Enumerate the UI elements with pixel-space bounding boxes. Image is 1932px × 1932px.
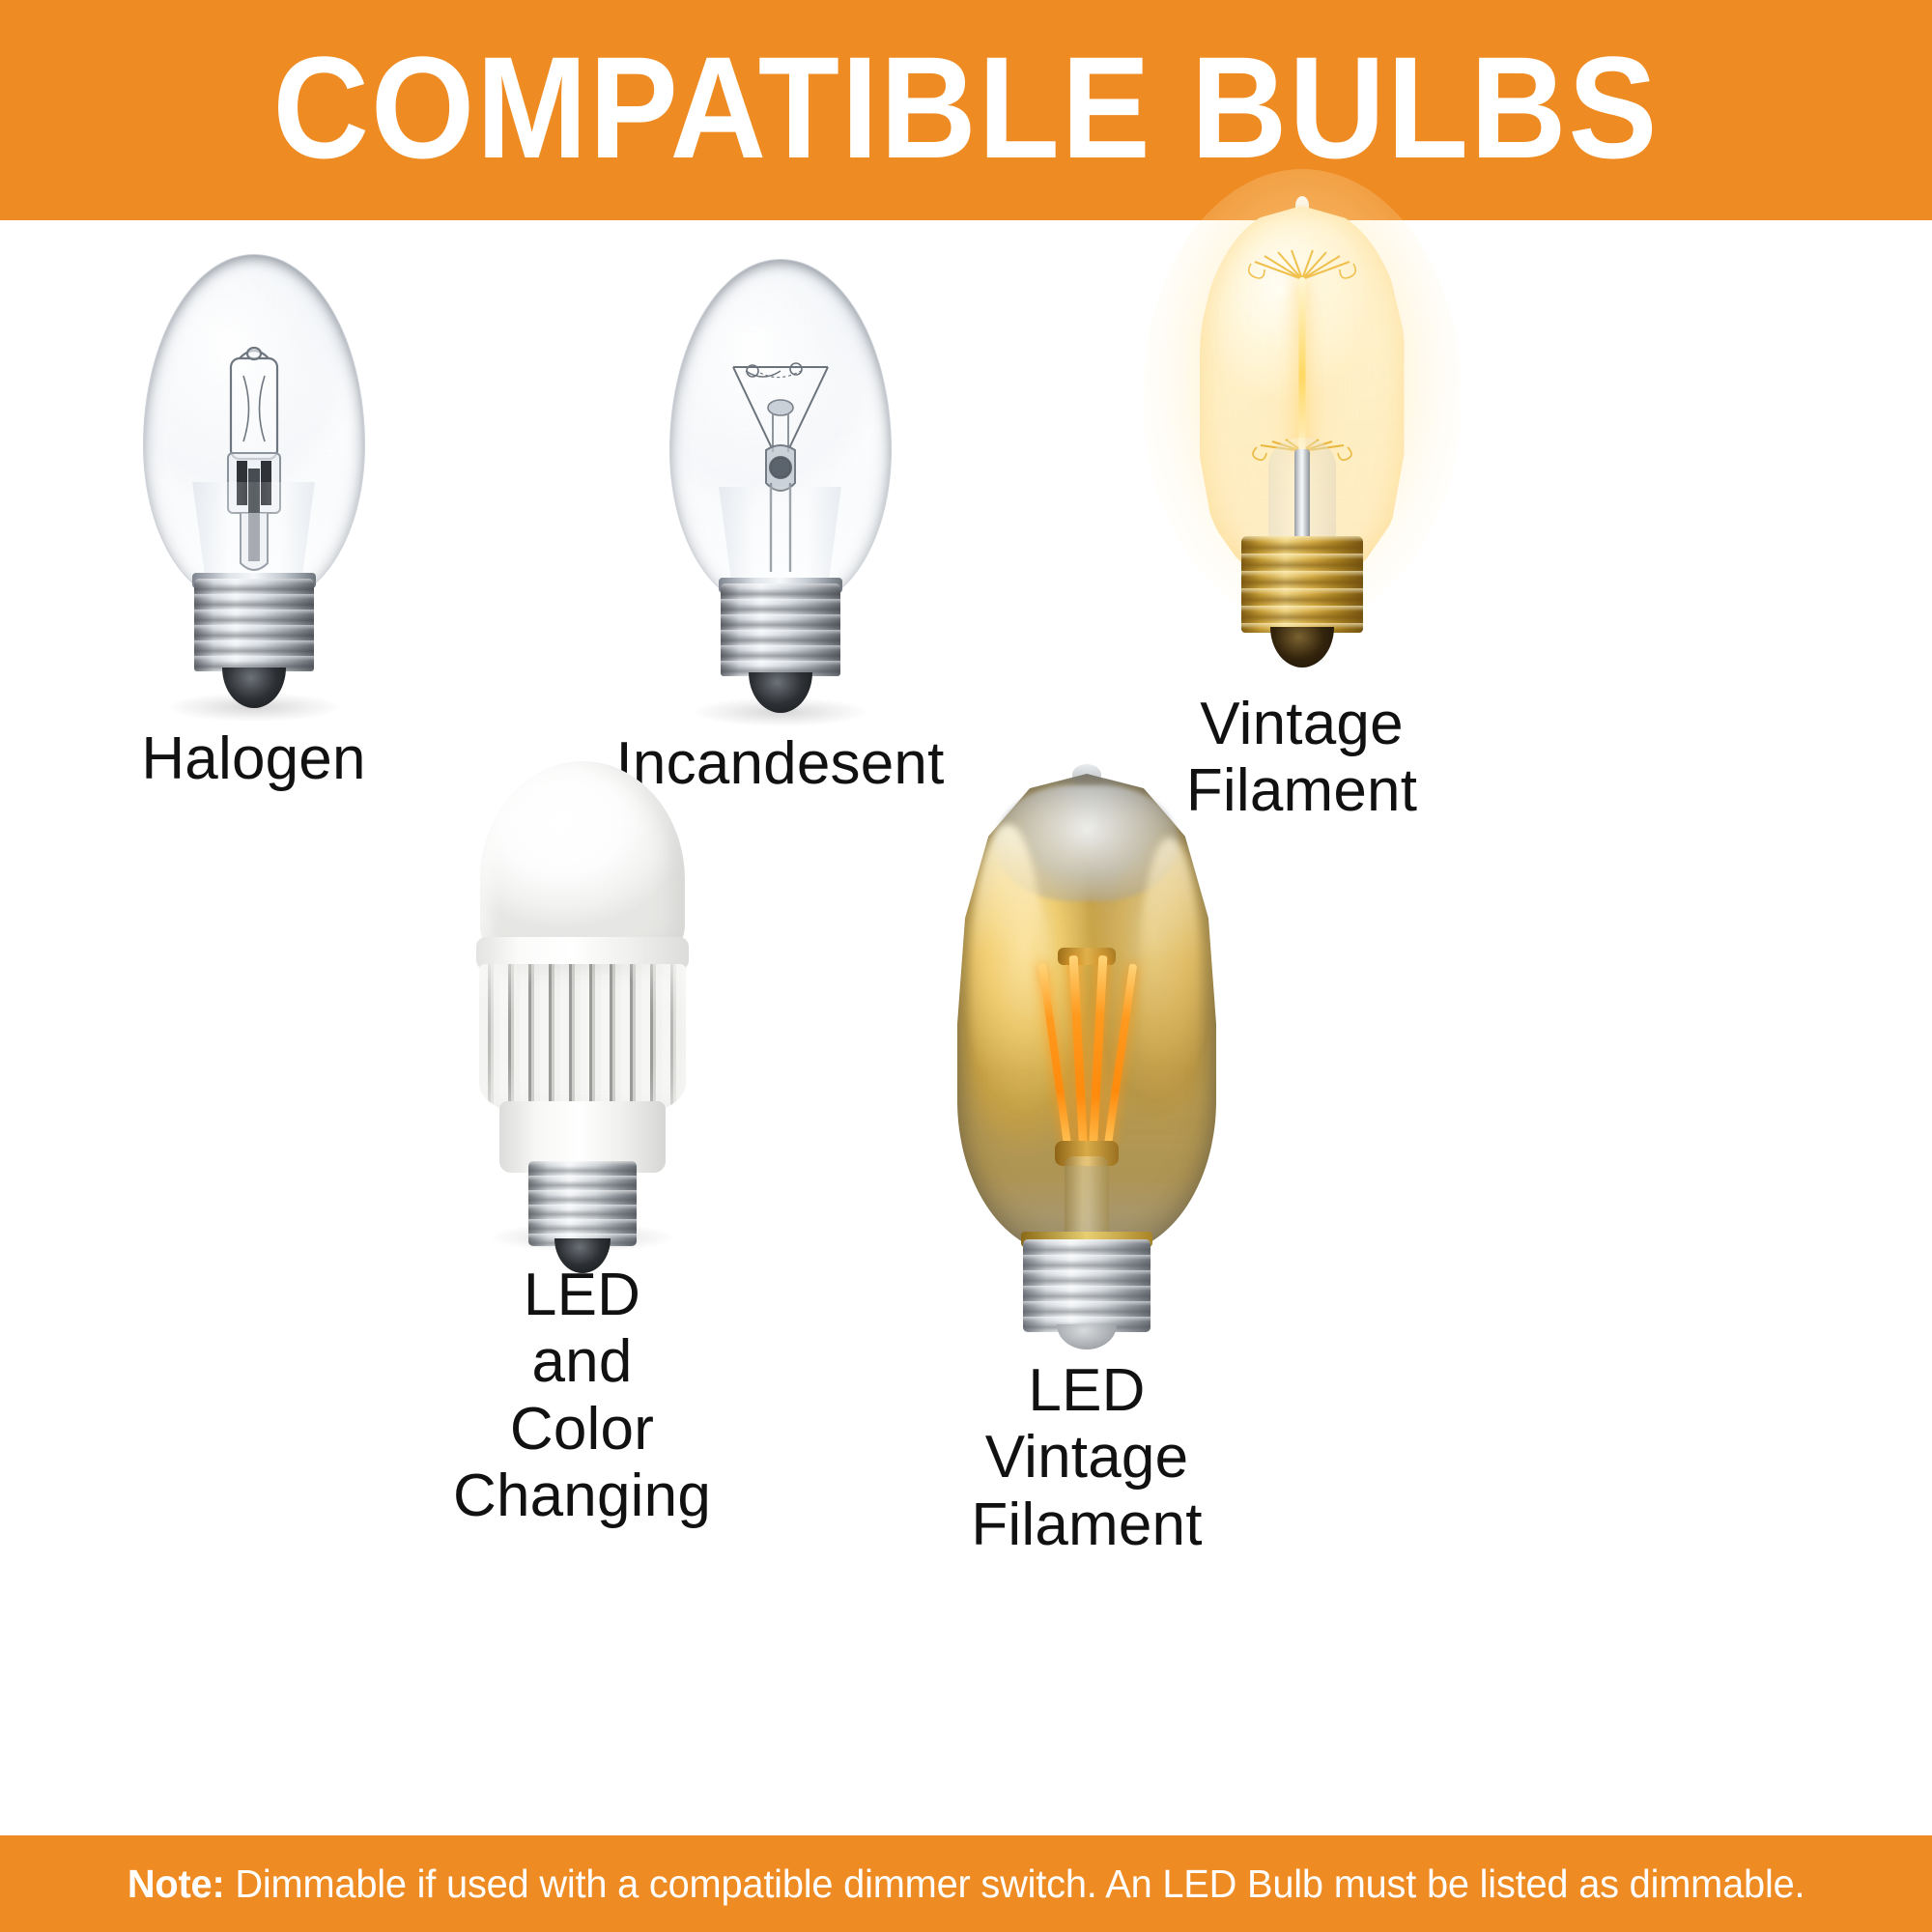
page-title: COMPATIBLE BULBS bbox=[273, 35, 1660, 180]
heatsink-shading bbox=[479, 964, 686, 1117]
bulb-card-vintage-filament[interactable]: Vintage Filament bbox=[1121, 196, 1483, 825]
bulb-card-led-color-changing[interactable]: LED and Color Changing bbox=[401, 761, 763, 1530]
bulb-card-incandesent[interactable]: Incandesent bbox=[599, 259, 961, 797]
screw-base bbox=[194, 579, 314, 671]
bulb-caption: Halogen bbox=[141, 725, 365, 792]
bulb-card-halogen[interactable]: Halogen bbox=[72, 254, 435, 792]
incandescent-bulb-icon bbox=[669, 259, 892, 713]
header-bar: COMPATIBLE BULBS bbox=[0, 0, 1932, 220]
center-post bbox=[1294, 449, 1310, 542]
screw-base bbox=[721, 583, 840, 676]
led-bulb-icon bbox=[467, 761, 698, 1235]
bulb-grid: Halogen bbox=[0, 220, 1932, 1835]
bulb-caption: LED and Color Changing bbox=[401, 1262, 763, 1530]
bulb-card-led-vintage-filament[interactable]: LED Vintage Filament bbox=[874, 756, 1299, 1558]
glass-highlight-left bbox=[972, 824, 1043, 1143]
frosted-dome bbox=[480, 761, 685, 966]
screw-base bbox=[528, 1161, 637, 1246]
bulb-caption: LED Vintage Filament bbox=[874, 1357, 1299, 1558]
footer-note-text: Dimmable if used with a compatible dimme… bbox=[224, 1861, 1804, 1906]
screw-base bbox=[1023, 1239, 1151, 1332]
halogen-bulb-icon bbox=[143, 254, 365, 708]
base-contact-cap bbox=[1270, 627, 1334, 668]
glass-highlight-right bbox=[1140, 838, 1200, 1127]
base-contact-cap bbox=[222, 668, 286, 708]
footer-note-bar: Note: Dimmable if used with a compatible… bbox=[0, 1835, 1932, 1932]
filament-stem bbox=[1298, 277, 1305, 457]
vintage-filament-bulb-icon bbox=[1191, 196, 1413, 669]
base-contact-cap bbox=[749, 672, 812, 713]
footer-note: Note: Dimmable if used with a compatible… bbox=[128, 1864, 1805, 1904]
base-contact-cap bbox=[1057, 1324, 1117, 1350]
led-vintage-filament-bulb-icon bbox=[947, 756, 1227, 1336]
footer-note-label: Note: bbox=[128, 1861, 225, 1906]
screw-base bbox=[1241, 536, 1363, 633]
